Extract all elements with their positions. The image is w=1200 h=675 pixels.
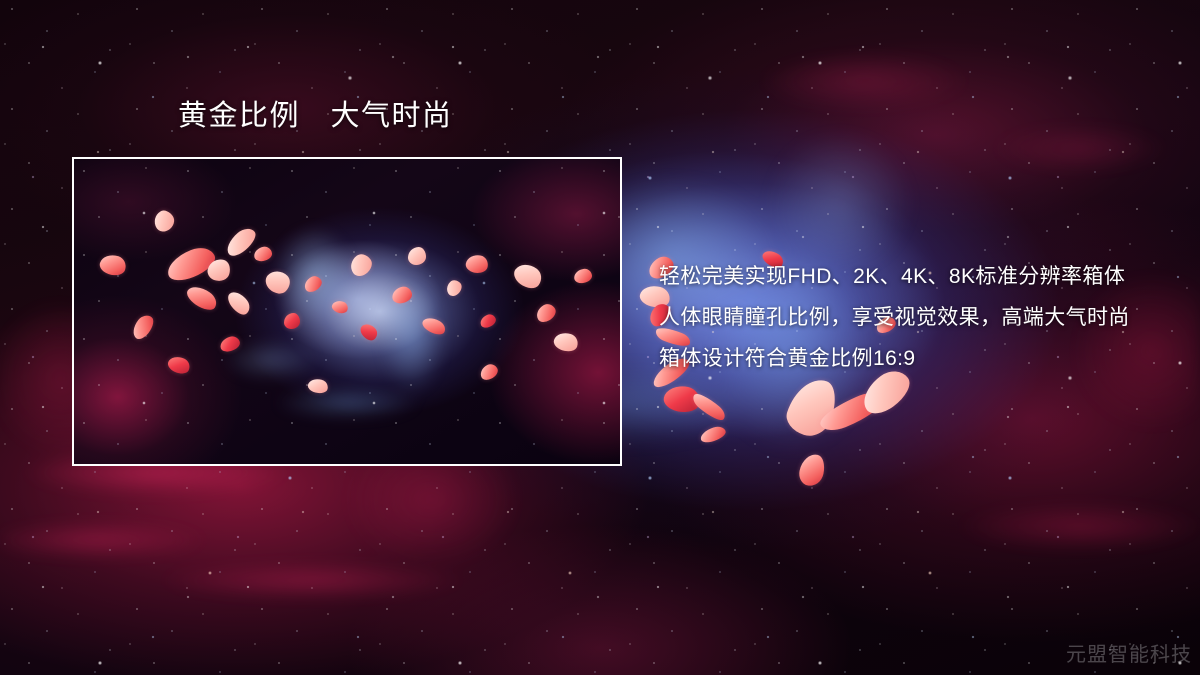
- framed-image-panel: [72, 157, 622, 466]
- body-line: 人体眼睛瞳孔比例，享受视觉效果，高端大气时尚: [659, 297, 1159, 338]
- page-title: 黄金比例 大气时尚: [178, 100, 453, 133]
- body-line: 轻松完美实现FHD、2K、4K、8K标准分辨率箱体: [659, 256, 1159, 297]
- body-text-block: 轻松完美实现FHD、2K、4K、8K标准分辨率箱体 人体眼睛瞳孔比例，享受视觉效…: [659, 256, 1159, 379]
- body-line: 箱体设计符合黄金比例16:9: [659, 338, 1159, 379]
- watermark: 元盟智能科技: [1066, 638, 1192, 667]
- presentation-slide: 黄金比例 大气时尚 轻松完美实现FHD、2K、4K、8K标准分辨率箱体 人体眼睛…: [0, 0, 1200, 675]
- starfield-inner-bright-icon: [74, 159, 620, 464]
